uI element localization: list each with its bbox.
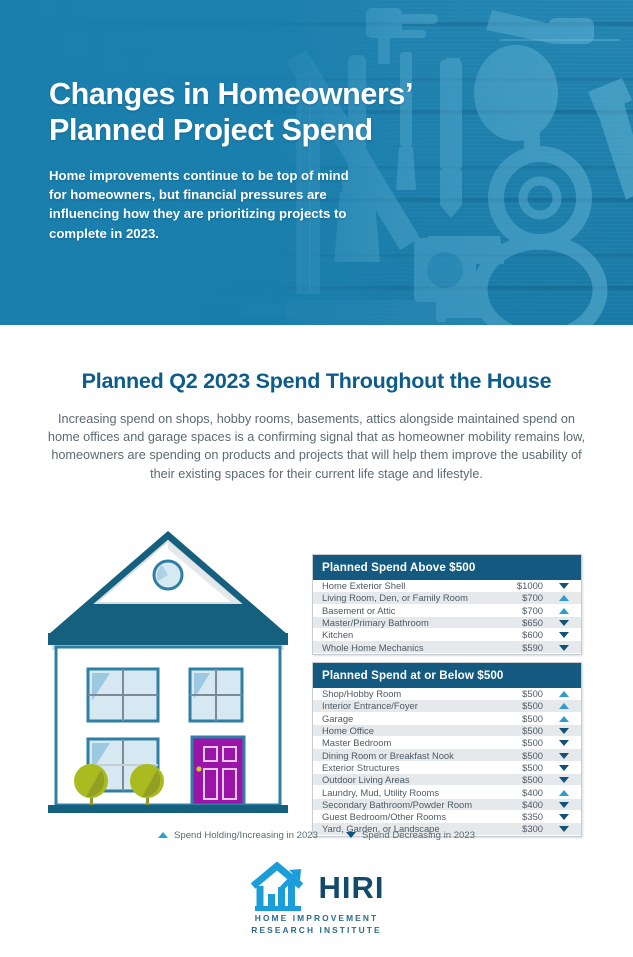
row-value: $500 — [505, 750, 553, 761]
page-title-line1: Changes in Homeowners’ — [49, 76, 449, 112]
table-row[interactable]: Home Office $500 — [313, 725, 581, 737]
table-row[interactable]: Guest Bedroom/Other Rooms $350 — [313, 811, 581, 823]
triangle-down-icon — [553, 725, 575, 736]
legend-label: Spend Decreasing in 2023 — [362, 830, 475, 841]
row-label: Living Room, Den, or Family Room — [322, 592, 505, 603]
table-row[interactable]: Secondary Bathroom/Powder Room $400 — [313, 799, 581, 811]
logo-wordmark: HIRI — [319, 872, 385, 903]
infographic-page: Changes in Homeowners’ Planned Project S… — [0, 0, 633, 957]
triangle-down-icon — [553, 737, 575, 748]
row-value: $700 — [505, 605, 553, 616]
row-label: Secondary Bathroom/Powder Room — [322, 799, 505, 810]
row-value: $500 — [505, 737, 553, 748]
logo-tagline-line1: HOME IMPROVEMENT — [255, 912, 378, 924]
hero-subtitle: Home improvements continue to be top of … — [49, 166, 369, 243]
table-rows-below-500: Shop/Hobby Room $500 Interior Entrance/F… — [313, 688, 581, 836]
chart-legend: Spend Holding/Increasing in 2023 Spend D… — [0, 830, 633, 841]
legend-item-decreasing: Spend Decreasing in 2023 — [346, 830, 475, 841]
table-row[interactable]: Kitchen $600 — [313, 629, 581, 641]
row-value: $500 — [505, 688, 553, 699]
table-planned-spend-above-500: Planned Spend Above $500 Home Exterior S… — [312, 554, 582, 655]
table-row[interactable]: Exterior Structures $500 — [313, 762, 581, 774]
row-value: $500 — [505, 713, 553, 724]
triangle-up-icon — [553, 713, 575, 724]
row-label: Kitchen — [322, 629, 505, 640]
section-description: Increasing spend on shops, hobby rooms, … — [46, 410, 587, 483]
row-label: Laundry, Mud, Utility Rooms — [322, 787, 505, 798]
table-row[interactable]: Home Exterior Shell $1000 — [313, 580, 581, 592]
triangle-up-icon — [553, 700, 575, 711]
legend-label: Spend Holding/Increasing in 2023 — [174, 830, 318, 841]
row-value: $700 — [505, 592, 553, 603]
triangle-down-icon — [553, 811, 575, 822]
row-value: $350 — [505, 811, 553, 822]
row-value: $600 — [505, 629, 553, 640]
row-label: Home Exterior Shell — [322, 580, 505, 591]
row-label: Exterior Structures — [322, 762, 505, 773]
row-value: $500 — [505, 762, 553, 773]
table-row[interactable]: Outdoor Living Areas $500 — [313, 774, 581, 786]
row-label: Interior Entrance/Foyer — [322, 700, 505, 711]
triangle-down-icon — [553, 580, 575, 591]
table-row[interactable]: Living Room, Den, or Family Room $700 — [313, 592, 581, 604]
triangle-down-icon — [553, 750, 575, 761]
row-value: $500 — [505, 774, 553, 785]
table-row[interactable]: Garage $500 — [313, 713, 581, 725]
row-value: $500 — [505, 725, 553, 736]
triangle-up-icon — [553, 605, 575, 616]
row-value: $400 — [505, 787, 553, 798]
row-value: $400 — [505, 799, 553, 810]
house-svg — [44, 523, 292, 819]
row-label: Guest Bedroom/Other Rooms — [322, 811, 505, 822]
table-row[interactable]: Master/Primary Bathroom $650 — [313, 617, 581, 629]
triangle-down-icon — [553, 799, 575, 810]
table-row[interactable]: Dining Room or Breakfast Nook $500 — [313, 749, 581, 761]
table-row[interactable]: Master Bedroom $500 — [313, 737, 581, 749]
page-title-line2: Planned Project Spend — [49, 112, 449, 148]
triangle-down-icon — [553, 774, 575, 785]
row-label: Shop/Hobby Room — [322, 688, 505, 699]
table-row[interactable]: Interior Entrance/Foyer $500 — [313, 700, 581, 712]
hiri-logo[interactable]: HIRI HOME IMPROVEMENT RESEARCH INSTITUTE — [0, 862, 633, 936]
row-label: Home Office — [322, 725, 505, 736]
table-header-above-500: Planned Spend Above $500 — [313, 555, 581, 580]
section-title: Planned Q2 2023 Spend Throughout the Hou… — [0, 369, 633, 394]
row-label: Whole Home Mechanics — [322, 642, 505, 653]
row-label: Garage — [322, 713, 505, 724]
hiri-house-mark-icon — [249, 862, 311, 912]
doorknob-icon — [196, 766, 201, 771]
triangle-down-icon — [553, 762, 575, 773]
triangle-down-icon — [553, 629, 575, 640]
table-row[interactable]: Whole Home Mechanics $590 — [313, 641, 581, 653]
triangle-up-icon — [158, 830, 168, 841]
logo-tagline-line2: RESEARCH INSTITUTE — [251, 924, 381, 936]
triangle-down-icon — [553, 642, 575, 653]
hero-banner: Changes in Homeowners’ Planned Project S… — [0, 0, 633, 325]
row-value: $650 — [505, 617, 553, 628]
page-title: Changes in Homeowners’ Planned Project S… — [49, 76, 449, 148]
row-value: $500 — [505, 700, 553, 711]
triangle-down-icon — [346, 830, 356, 841]
triangle-up-icon — [553, 787, 575, 798]
row-label: Master/Primary Bathroom — [322, 617, 505, 628]
triangle-up-icon — [553, 592, 575, 603]
row-value: $1000 — [505, 580, 553, 591]
table-row[interactable]: Shop/Hobby Room $500 — [313, 688, 581, 700]
legend-item-increasing: Spend Holding/Increasing in 2023 — [158, 830, 318, 841]
triangle-down-icon — [553, 617, 575, 628]
triangle-up-icon — [553, 688, 575, 699]
hero-content: Changes in Homeowners’ Planned Project S… — [49, 76, 449, 243]
table-row[interactable]: Laundry, Mud, Utility Rooms $400 — [313, 786, 581, 798]
row-label: Outdoor Living Areas — [322, 774, 505, 785]
row-label: Master Bedroom — [322, 737, 505, 748]
row-label: Dining Room or Breakfast Nook — [322, 750, 505, 761]
row-label: Basement or Attic — [322, 605, 505, 616]
logo-row: HIRI — [249, 862, 385, 912]
table-planned-spend-at-or-below-500: Planned Spend at or Below $500 Shop/Hobb… — [312, 662, 582, 837]
row-value: $590 — [505, 642, 553, 653]
house-illustration — [44, 523, 292, 819]
table-rows-above-500: Home Exterior Shell $1000 Living Room, D… — [313, 580, 581, 654]
table-header-below-500: Planned Spend at or Below $500 — [313, 663, 581, 688]
table-row[interactable]: Basement or Attic $700 — [313, 605, 581, 617]
